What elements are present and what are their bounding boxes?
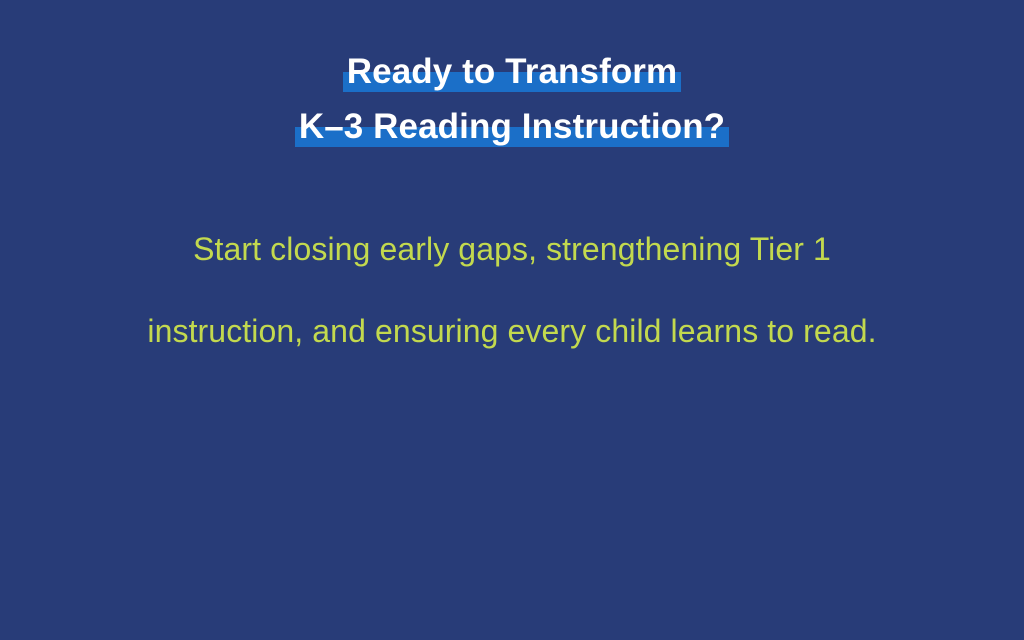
slide-title: Ready to Transform K–3 Reading Instructi… [0, 44, 1024, 154]
slide-subtitle: Start closing early gaps, strengthening … [0, 208, 1024, 372]
body-line-2: instruction, and ensuring every child le… [0, 290, 1024, 372]
title-line-1: Ready to Transform [0, 44, 1024, 99]
body-line-1: Start closing early gaps, strengthening … [0, 208, 1024, 290]
title-line-2-text: K–3 Reading Instruction? [295, 99, 729, 154]
title-line-2: K–3 Reading Instruction? [0, 99, 1024, 154]
title-line-1-text: Ready to Transform [343, 44, 682, 99]
slide-canvas: Ready to Transform K–3 Reading Instructi… [0, 0, 1024, 640]
